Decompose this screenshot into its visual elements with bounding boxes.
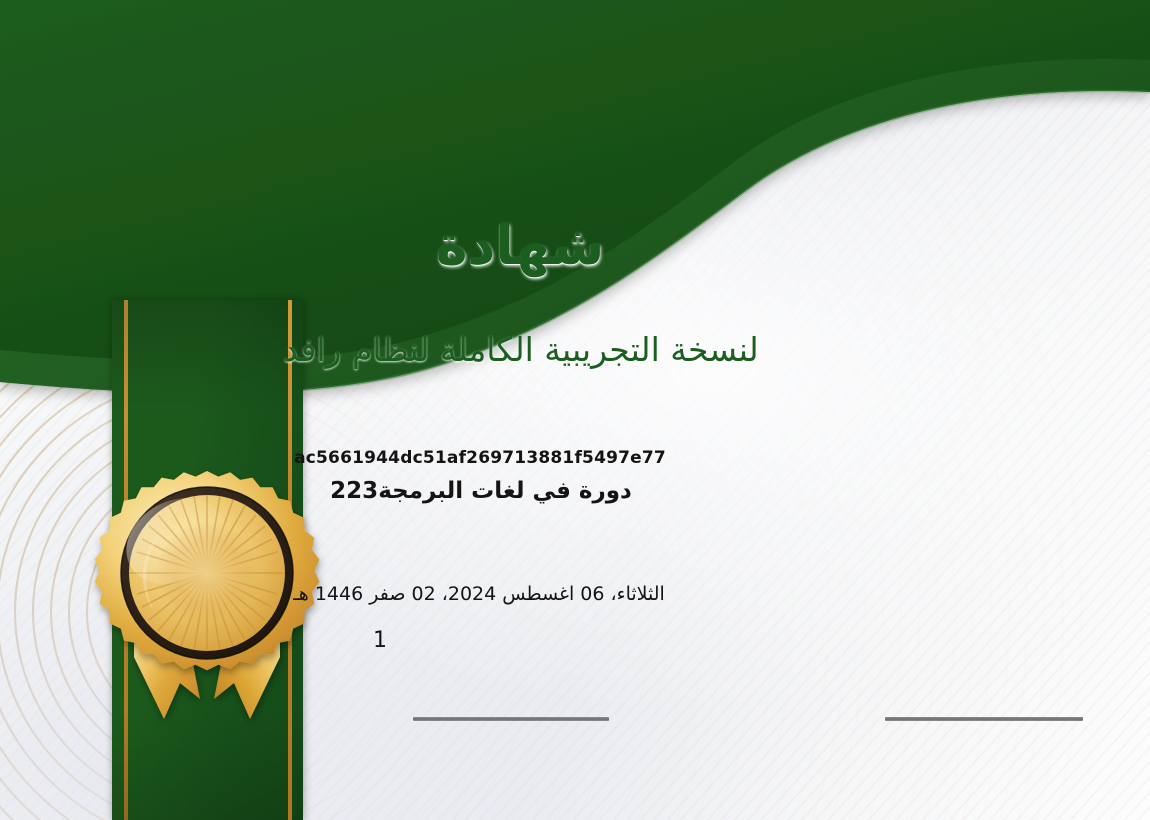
certificate-number: 1 [0, 628, 1150, 653]
certificate-page: شهادة لنسخة التجريبية الكاملة لنظام رافد… [0, 0, 1150, 820]
signature-line-left [413, 717, 609, 721]
issue-date: الثلاثاء، 06 اغسطس 2024، 02 صفر 1446 هـ [0, 583, 1150, 605]
course-name: دورة في لغات البرمجة223 [0, 478, 1150, 504]
signature-line-right [885, 717, 1083, 721]
page-title: شهادة [0, 218, 1150, 275]
certificate-subtitle: لنسخة التجريبية الكاملة لنظام رافد [0, 330, 1150, 369]
verification-hash: ac5661944dc51af269713881f5497e77 [0, 448, 1150, 468]
